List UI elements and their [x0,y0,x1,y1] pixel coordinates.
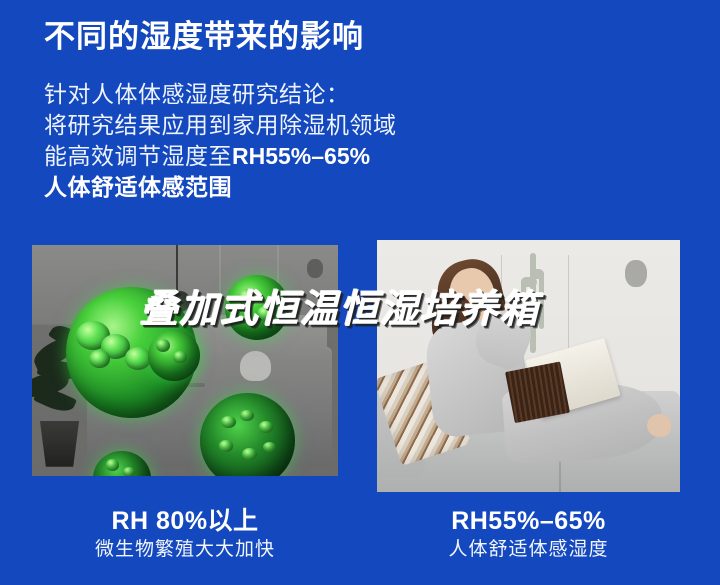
humidity-range-value: RH55%–65% [232,143,370,169]
poster-root: 不同的湿度带来的影响 针对人体体感湿度研究结论： 将研究结果应用到家用除湿机领域… [0,0,720,585]
cushion-icon [240,351,271,381]
caption-left-title: RH 80%以上 [32,506,338,536]
body-line-1: 针对人体体感湿度研究结论： [44,79,397,110]
lamp-cord-icon [176,245,178,296]
body-text-block: 针对人体体感湿度研究结论： 将研究结果应用到家用除湿机领域 能高效调节湿度至RH… [44,79,397,203]
wall-knob-icon [307,259,323,278]
caption-left-subtitle: 微生物繁殖大大加快 [32,536,338,564]
caption-right: RH55%–65% 人体舒适体感湿度 [377,506,680,564]
body-line-3: 能高效调节湿度至RH55%–65% [44,141,397,172]
body-line-2: 将研究结果应用到家用除湿机领域 [44,110,397,141]
frame-line-icon [568,255,569,361]
speaker-knob-icon [625,260,647,287]
photo-left-humid-room [32,245,338,476]
caption-left: RH 80%以上 微生物繁殖大大加快 [32,506,338,564]
microbe-medium [225,275,289,340]
caption-right-title: RH55%–65% [377,506,680,536]
body-line-4: 人体舒适体感范围 [44,172,397,203]
photo-right-comfort-room [377,240,680,492]
body-line-3-prefix: 能高效调节湿度至 [44,143,232,169]
page-title: 不同的湿度带来的影响 [44,18,364,57]
foot-icon [647,414,671,437]
caption-right-subtitle: 人体舒适体感湿度 [377,536,680,564]
